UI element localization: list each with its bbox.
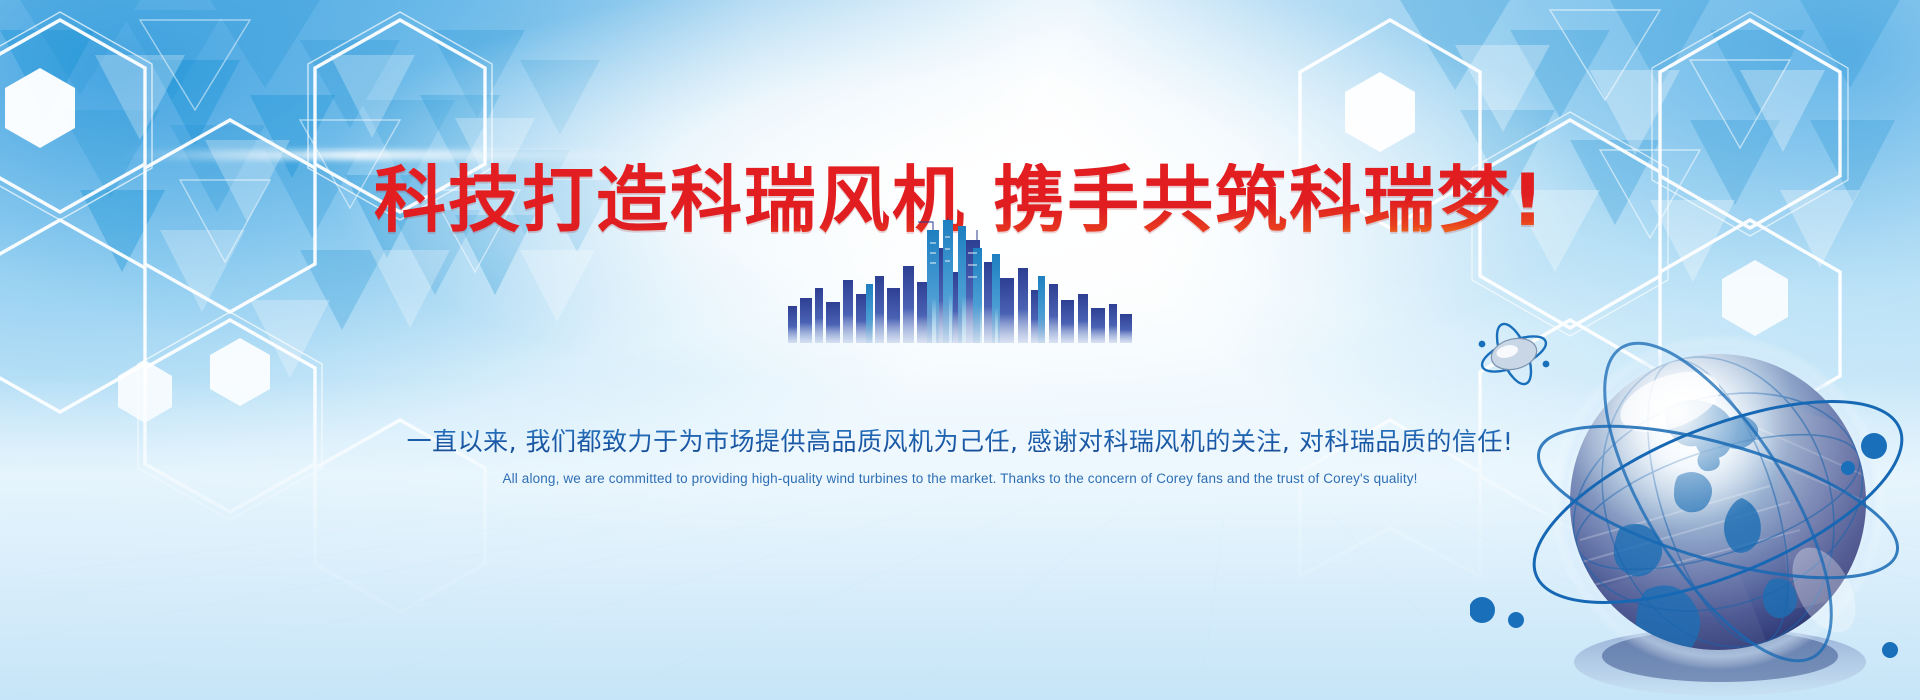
tech-banner: 科技打造科瑞风机 携手共筑科瑞梦! <box>0 0 1920 700</box>
chrome-globe-with-orbit-rings <box>1470 290 1920 700</box>
city-skyline-silhouette <box>770 218 1150 343</box>
